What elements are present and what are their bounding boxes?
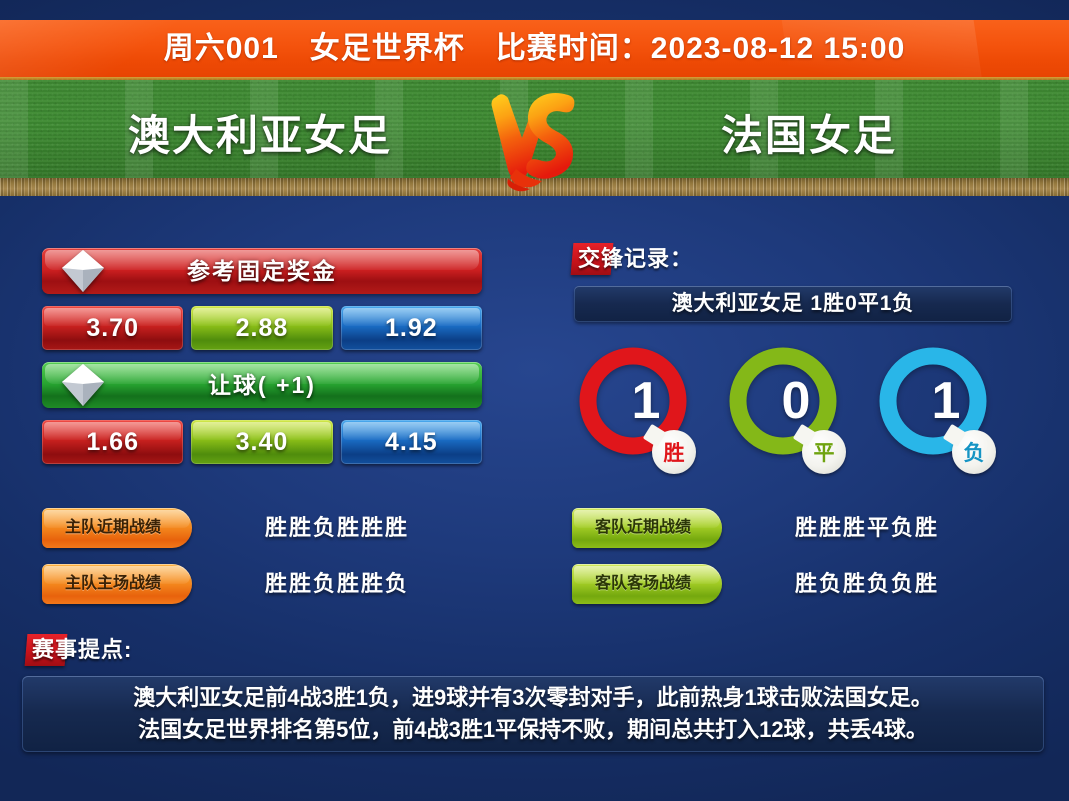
h2h-loss-badge-text: 负	[964, 437, 985, 467]
fixed-odds-home[interactable]: 3.70	[42, 306, 183, 350]
h2h-ring-loss: 1 负	[872, 345, 1012, 485]
home-host-form-label: 主队主场战绩	[42, 564, 192, 604]
away-team-name: 法国女足	[619, 96, 999, 176]
away-host-form-value: 胜负胜负负胜	[722, 564, 1012, 604]
fixed-odds-title: 参考固定奖金	[42, 248, 482, 294]
vs-logo-icon	[482, 83, 586, 195]
header-title: 周六001 女足世界杯 比赛时间：2023-08-12 15:00	[0, 20, 1069, 77]
tips-content-box: 澳大利亚女足前4战3胜1负，进9球并有3次零封对手，此前热身1球击败法国女足。 …	[22, 676, 1044, 752]
away-recent-form-row: 胜胜胜平负胜 客队近期战绩	[572, 508, 1012, 548]
away-recent-form-label: 客队近期战绩	[572, 508, 722, 548]
handicap-odds-draw[interactable]: 3.40	[191, 420, 332, 464]
home-recent-form-value: 胜胜负胜胜胜	[192, 508, 482, 548]
home-recent-form-label: 主队近期战绩	[42, 508, 192, 548]
fixed-odds-title-bar: 参考固定奖金	[42, 248, 482, 294]
h2h-label-text: 交锋记录：	[572, 243, 693, 275]
fixed-odds-draw-value: 2.88	[191, 306, 332, 350]
diamond-gem-icon-green-bar	[58, 360, 108, 410]
h2h-win-badge: 胜	[652, 430, 696, 474]
away-recent-form-value: 胜胜胜平负胜	[722, 508, 1012, 548]
handicap-odds-away[interactable]: 4.15	[341, 420, 482, 464]
fixed-odds-away-value: 1.92	[341, 306, 482, 350]
fixed-odds-away[interactable]: 1.92	[341, 306, 482, 350]
h2h-label-rest: 锋记录：	[601, 246, 693, 271]
h2h-summary-bar: 澳大利亚女足 1胜0平1负	[574, 286, 1012, 322]
fixed-odds-draw[interactable]: 2.88	[191, 306, 332, 350]
home-host-form-tab: 主队主场战绩	[42, 564, 192, 604]
tips-chip-char: 赛	[32, 637, 55, 662]
tips-line-1: 澳大利亚女足前4战3胜1负，进9球并有3次零封对手，此前热身1球击败法国女足。	[32, 682, 1034, 714]
h2h-loss-badge: 负	[952, 430, 996, 474]
away-host-form-label: 客队客场战绩	[572, 564, 722, 604]
handicap-title-bar: 让球( +1)	[42, 362, 482, 408]
h2h-ring-draw: 0 平	[722, 345, 862, 485]
handicap-odds-values: 1.66 3.40 4.15	[42, 420, 482, 464]
handicap-odds-home-value: 1.66	[42, 420, 183, 464]
h2h-draw-badge-text: 平	[814, 437, 835, 467]
h2h-draw-badge: 平	[802, 430, 846, 474]
away-host-form-row: 胜负胜负负胜 客队客场战绩	[572, 564, 1012, 604]
home-recent-form-row: 胜胜负胜胜胜 主队近期战绩	[42, 508, 482, 548]
tips-line-2: 法国女足世界排名第5位，前4战3胜1平保持不败，期间总共打入12球，共丢4球。	[32, 714, 1034, 746]
h2h-win-badge-text: 胜	[664, 437, 685, 467]
h2h-section-label: 交锋记录：	[572, 243, 693, 275]
match-preview-graphic: 周六001 女足世界杯 比赛时间：2023-08-12 15:00 澳大利亚女足…	[0, 0, 1069, 801]
tips-section-label: 赛事提点:	[26, 634, 132, 666]
tips-label-text: 赛事提点:	[26, 634, 132, 666]
fixed-odds-values: 3.70 2.88 1.92	[42, 306, 482, 350]
diamond-gem-icon-red-bar	[58, 246, 108, 296]
handicap-odds-home[interactable]: 1.66	[42, 420, 183, 464]
away-recent-form-tab: 客队近期战绩	[572, 508, 722, 548]
home-host-form-value: 胜胜负胜胜负	[192, 564, 482, 604]
h2h-ring-win: 1 胜	[572, 345, 712, 485]
handicap-odds-away-value: 4.15	[341, 420, 482, 464]
fixed-odds-home-value: 3.70	[42, 306, 183, 350]
tips-label-rest: 事提点:	[55, 637, 132, 662]
header-bar: 周六001 女足世界杯 比赛时间：2023-08-12 15:00	[0, 20, 1069, 77]
h2h-chip-char: 交	[578, 246, 601, 271]
away-host-form-tab: 客队客场战绩	[572, 564, 722, 604]
handicap-odds-draw-value: 3.40	[191, 420, 332, 464]
home-recent-form-tab: 主队近期战绩	[42, 508, 192, 548]
handicap-title: 让球( +1)	[42, 362, 482, 408]
home-host-form-row: 胜胜负胜胜负 主队主场战绩	[42, 564, 482, 604]
home-team-name: 澳大利亚女足	[70, 96, 450, 176]
